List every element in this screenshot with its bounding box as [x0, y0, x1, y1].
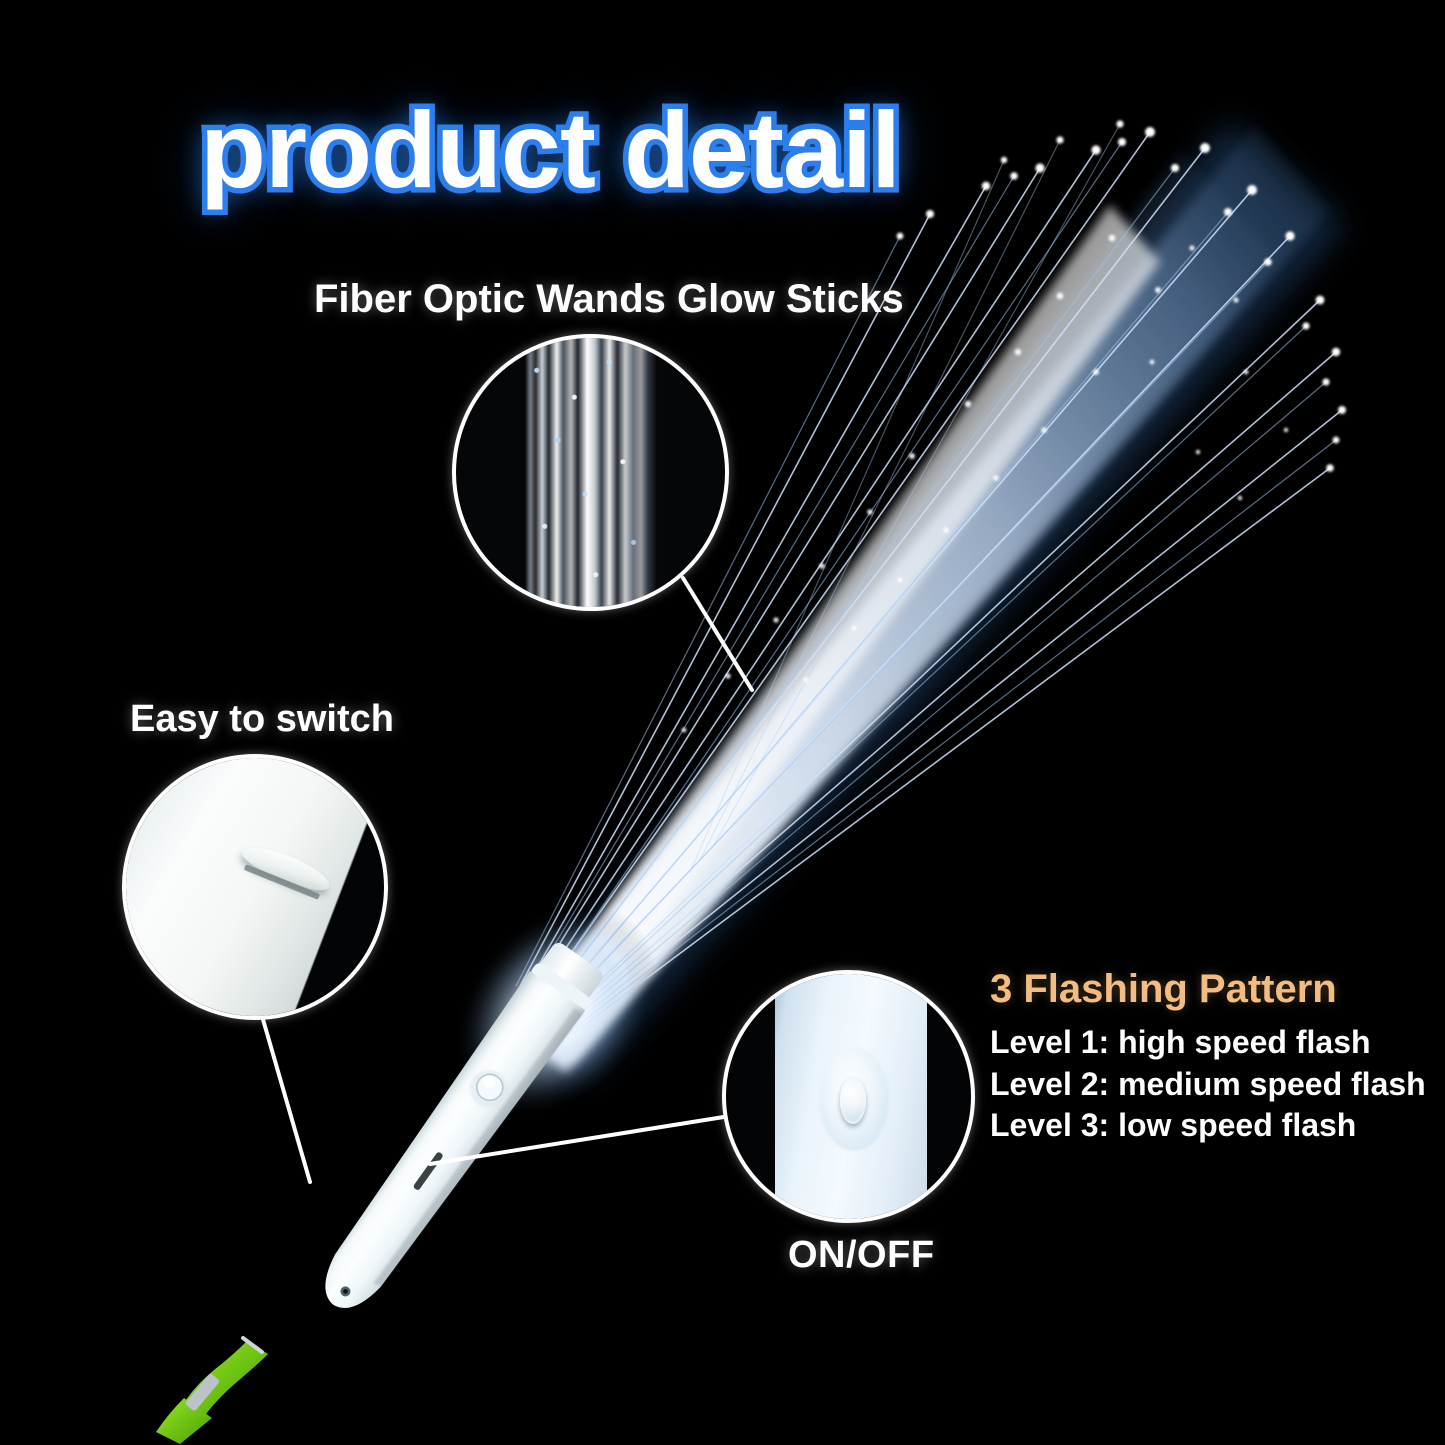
fiber-sparkles — [456, 338, 725, 607]
flashing-pattern-heading: 3 Flashing Pattern — [990, 967, 1430, 1012]
label-fiber-optic-wands: Fiber Optic Wands Glow Sticks — [314, 277, 904, 322]
product-detail-image: product detail Fiber Optic Wands Glow St… — [0, 0, 1445, 1445]
label-on-off: ON/OFF — [788, 1234, 935, 1277]
callout-fiber-strands — [452, 334, 729, 611]
leader-line-onoff — [430, 1116, 730, 1164]
flashing-level-1: Level 1: high speed flash — [990, 1022, 1430, 1064]
leader-line-switch — [262, 1016, 310, 1182]
power-button — [840, 1077, 866, 1124]
handle-face-closeup — [775, 970, 927, 1223]
tube-body-closeup — [122, 754, 388, 1020]
label-easy-to-switch: Easy to switch — [130, 698, 394, 741]
flashing-level-2: Level 2: medium speed flash — [990, 1064, 1430, 1106]
flashing-pattern-block: 3 Flashing Pattern Level 1: high speed f… — [990, 967, 1430, 1147]
page-title: product detail — [200, 96, 900, 204]
callout-switch — [122, 754, 388, 1020]
flashing-level-3: Level 3: low speed flash — [990, 1105, 1430, 1147]
callout-onoff-button — [722, 970, 975, 1223]
